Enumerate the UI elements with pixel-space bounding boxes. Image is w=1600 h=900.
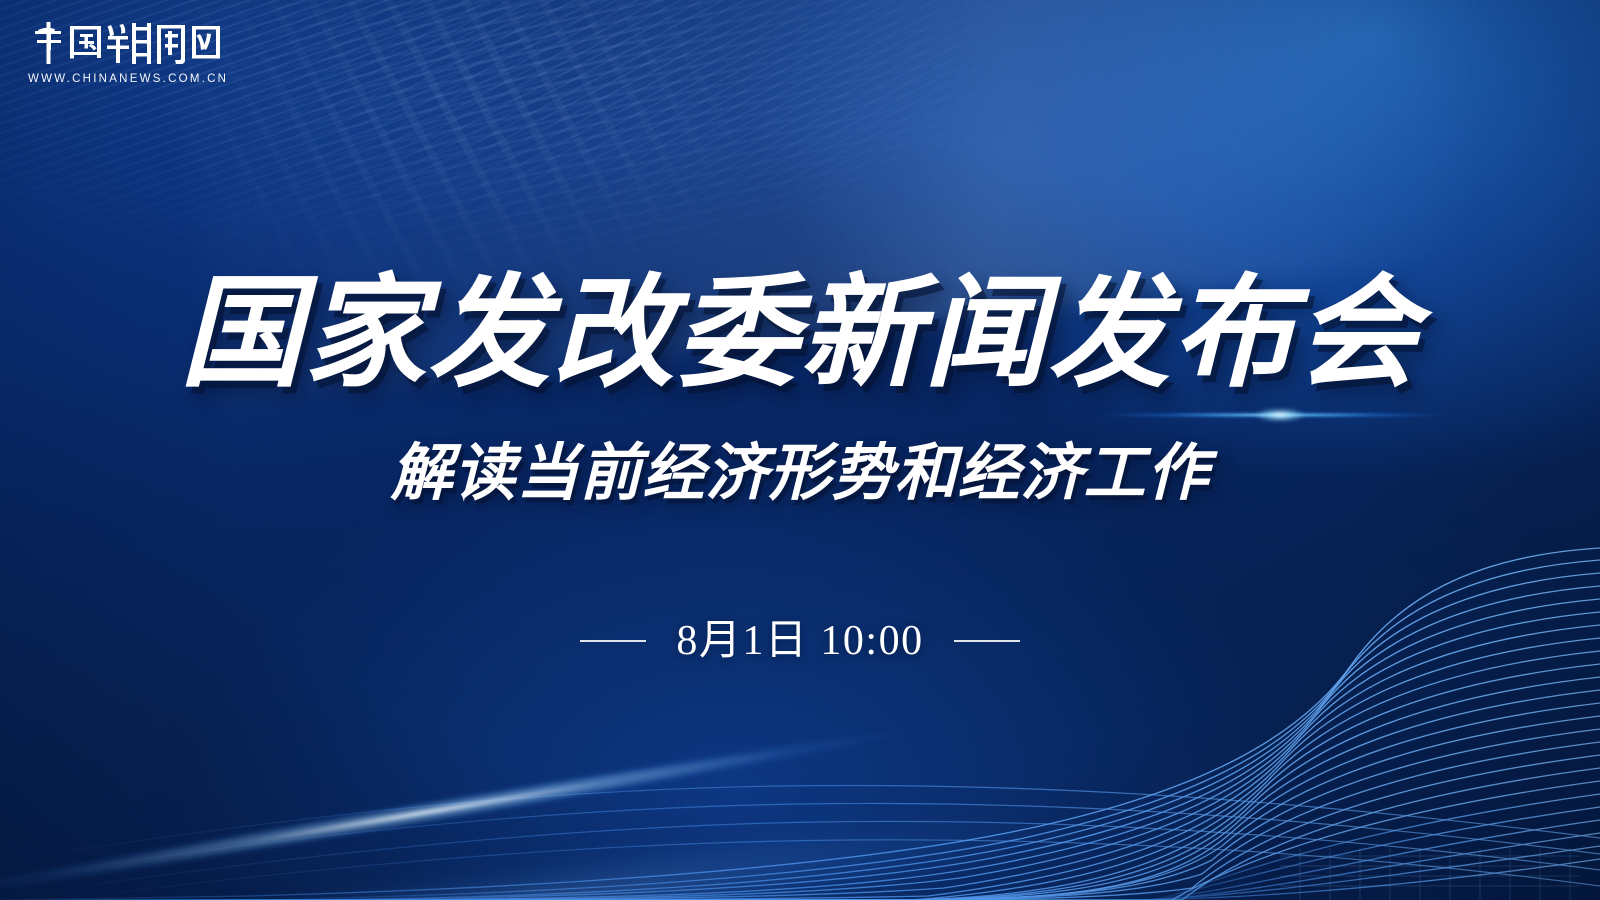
poster-headline: 国家发改委新闻发布会 [0, 272, 1600, 394]
rule-right-icon [954, 640, 1020, 642]
poster-subheadline: 解读当前经济形势和经济工作 [0, 443, 1600, 505]
poster-datetime-row: 8月1日 10:00 [0, 620, 1600, 662]
chinanews-calligraphy-logo-icon [28, 16, 220, 68]
poster-datetime: 8月1日 10:00 [676, 620, 923, 662]
brand-url: WWW.CHINANEWS.COM.CN [28, 73, 228, 85]
poster-canvas: WWW.CHINANEWS.COM.CN 国家发改委新闻发布会 解读当前经济形势… [0, 0, 1600, 900]
rule-left-icon [580, 640, 646, 642]
brand-logo[interactable]: WWW.CHINANEWS.COM.CN [28, 16, 228, 85]
